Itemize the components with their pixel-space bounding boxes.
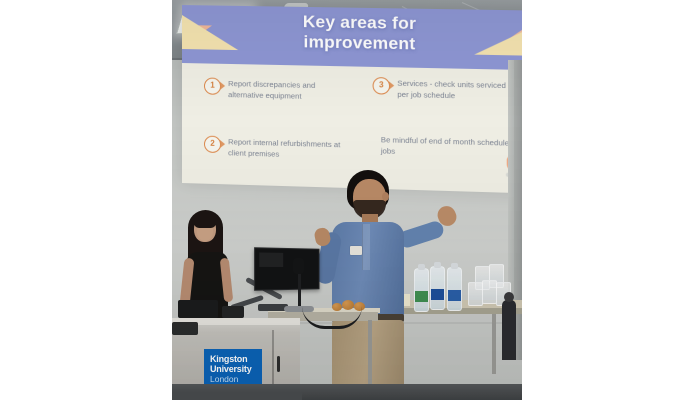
projected-slide: Key areas for improvement 1 Report discr… bbox=[182, 5, 522, 194]
slide-point-3: 3 Services - check units serviced as per… bbox=[373, 77, 522, 103]
kingston-sign-line1: Kingston bbox=[210, 354, 256, 364]
presenter-name-badge bbox=[350, 246, 362, 255]
slide-point-2-text: Report internal refurbishments at client… bbox=[228, 136, 356, 162]
presenter-shirt-placket bbox=[362, 224, 370, 270]
water-bottle bbox=[414, 268, 429, 312]
photo-canvas: Key areas for improvement 1 Report discr… bbox=[0, 0, 680, 400]
attendee-fringe bbox=[194, 213, 216, 228]
kingston-sign-line2: University bbox=[210, 364, 256, 374]
cabinet-handle[interactable] bbox=[277, 356, 280, 372]
slide-body: Key areas for improvement 1 Report discr… bbox=[182, 5, 522, 194]
table-leg bbox=[492, 314, 496, 374]
microphone-icon bbox=[293, 258, 304, 274]
water-bottle bbox=[447, 267, 462, 311]
slide-title-line1: Key areas for bbox=[303, 12, 416, 33]
presenter-ear bbox=[382, 192, 389, 201]
drinking-glass bbox=[468, 282, 483, 306]
monitor-screen[interactable] bbox=[254, 247, 319, 291]
slide-point-3-text: Services - check units serviced as per j… bbox=[397, 78, 522, 103]
slide-points: 1 Report discrepancies and alternative e… bbox=[182, 63, 522, 194]
slide-title-line2: improvement bbox=[182, 30, 522, 57]
slide-title: Key areas for improvement bbox=[182, 10, 522, 57]
slide-point-1-text: Report discrepancies and alternative equ… bbox=[228, 78, 346, 103]
kingston-sign-line3: London bbox=[210, 374, 256, 384]
presentation-photo: Key areas for improvement 1 Report discr… bbox=[172, 0, 522, 400]
background-person bbox=[502, 300, 516, 360]
background-person-head bbox=[504, 292, 514, 302]
av-equipment bbox=[222, 306, 244, 318]
slide-point-1: 1 Report discrepancies and alternative e… bbox=[204, 77, 346, 102]
bullet-number-3: 3 bbox=[373, 77, 391, 95]
bullet-number-1: 1 bbox=[204, 77, 221, 94]
drinking-glass bbox=[482, 280, 497, 304]
slide-title-banner: Key areas for improvement bbox=[182, 5, 522, 70]
water-bottle bbox=[430, 266, 445, 310]
slide-point-2: 2 Report internal refurbishments at clie… bbox=[204, 136, 356, 162]
av-equipment bbox=[172, 322, 198, 335]
floor-left bbox=[172, 392, 302, 400]
bullet-number-2: 2 bbox=[204, 136, 221, 153]
av-equipment bbox=[178, 300, 218, 318]
